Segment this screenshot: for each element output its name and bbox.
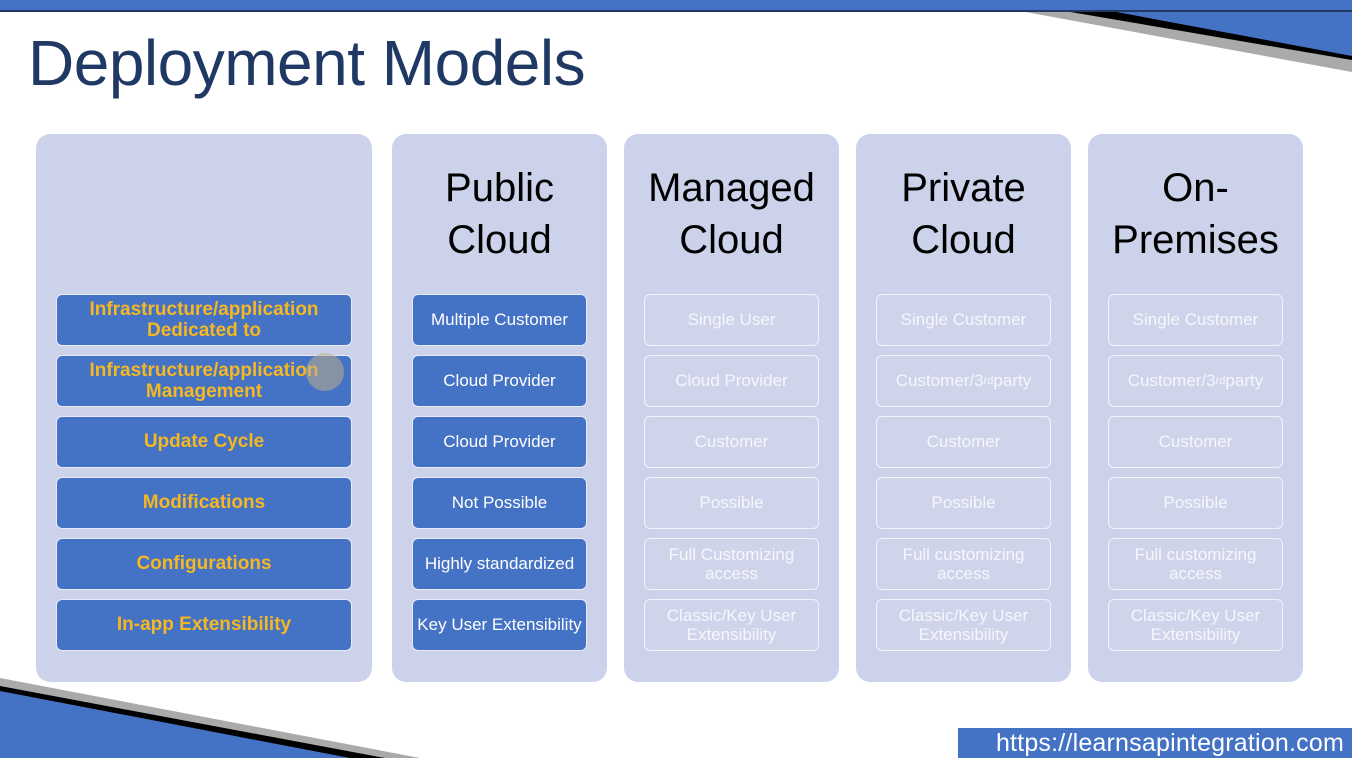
cell-managed-cloud-5[interactable]: Classic/Key User Extensibility xyxy=(644,599,819,651)
cell-managed-cloud-2[interactable]: Customer xyxy=(644,416,819,468)
cell-on-premises-0[interactable]: Single Customer xyxy=(1108,294,1283,346)
cell-public-cloud-4[interactable]: Highly standardized xyxy=(412,538,587,590)
bottom-left-blue-triangle-decoration xyxy=(0,691,350,758)
cell-private-cloud-1[interactable]: Customer/3rd party xyxy=(876,355,1051,407)
column-cells-on-premises: Single CustomerCustomer/3rd partyCustome… xyxy=(1108,294,1283,663)
cell-criteria-0[interactable]: Infrastructure/application Dedicated to xyxy=(56,294,352,346)
column-private-cloud: Private CloudSingle CustomerCustomer/3rd… xyxy=(856,134,1071,682)
footer-url-bar: https://learnsapintegration.com xyxy=(958,728,1352,758)
column-cells-public-cloud: Multiple CustomerCloud ProviderCloud Pro… xyxy=(412,294,587,663)
cell-criteria-2[interactable]: Update Cycle xyxy=(56,416,352,468)
cell-private-cloud-5[interactable]: Classic/Key User Extensibility xyxy=(876,599,1051,651)
cell-on-premises-2[interactable]: Customer xyxy=(1108,416,1283,468)
column-header-private-cloud: Private Cloud xyxy=(876,134,1051,294)
cell-criteria-3[interactable]: Modifications xyxy=(56,477,352,529)
column-on-premises: On-PremisesSingle CustomerCustomer/3rd p… xyxy=(1088,134,1303,682)
column-header-public-cloud: Public Cloud xyxy=(412,134,587,294)
cell-managed-cloud-3[interactable]: Possible xyxy=(644,477,819,529)
column-cells-criteria: Infrastructure/application Dedicated toI… xyxy=(56,294,352,663)
page-title: Deployment Models xyxy=(28,26,585,100)
cell-on-premises-3[interactable]: Possible xyxy=(1108,477,1283,529)
slide-canvas: Deployment Models Infrastructure/applica… xyxy=(0,0,1352,758)
top-blue-bar-decoration xyxy=(0,0,1352,10)
cell-private-cloud-2[interactable]: Customer xyxy=(876,416,1051,468)
cell-private-cloud-3[interactable]: Possible xyxy=(876,477,1051,529)
column-public-cloud: Public CloudMultiple CustomerCloud Provi… xyxy=(392,134,607,682)
column-criteria: Infrastructure/application Dedicated toI… xyxy=(36,134,372,682)
deployment-models-matrix: Infrastructure/application Dedicated toI… xyxy=(36,134,1318,682)
cell-public-cloud-1[interactable]: Cloud Provider xyxy=(412,355,587,407)
cell-managed-cloud-0[interactable]: Single User xyxy=(644,294,819,346)
cell-on-premises-1[interactable]: Customer/3rd party xyxy=(1108,355,1283,407)
cell-managed-cloud-4[interactable]: Full Customizing access xyxy=(644,538,819,590)
footer-url-text[interactable]: https://learnsapintegration.com xyxy=(996,729,1344,758)
cell-managed-cloud-1[interactable]: Cloud Provider xyxy=(644,355,819,407)
column-cells-private-cloud: Single CustomerCustomer/3rd partyCustome… xyxy=(876,294,1051,663)
cell-public-cloud-3[interactable]: Not Possible xyxy=(412,477,587,529)
cell-public-cloud-2[interactable]: Cloud Provider xyxy=(412,416,587,468)
cell-criteria-5[interactable]: In-app Extensibility xyxy=(56,599,352,651)
column-cells-managed-cloud: Single UserCloud ProviderCustomerPossibl… xyxy=(644,294,819,663)
column-header-managed-cloud: Managed Cloud xyxy=(644,134,819,294)
column-header-on-premises: On-Premises xyxy=(1108,134,1283,294)
top-navy-rule-decoration xyxy=(0,10,1352,12)
cell-on-premises-5[interactable]: Classic/Key User Extensibility xyxy=(1108,599,1283,651)
cell-private-cloud-4[interactable]: Full customizing access xyxy=(876,538,1051,590)
cell-public-cloud-0[interactable]: Multiple Customer xyxy=(412,294,587,346)
column-managed-cloud: Managed CloudSingle UserCloud ProviderCu… xyxy=(624,134,839,682)
cursor-highlight-blob xyxy=(306,353,344,391)
cell-criteria-4[interactable]: Configurations xyxy=(56,538,352,590)
cell-private-cloud-0[interactable]: Single Customer xyxy=(876,294,1051,346)
cell-on-premises-4[interactable]: Full customizing access xyxy=(1108,538,1283,590)
cell-public-cloud-5[interactable]: Key User Extensibility xyxy=(412,599,587,651)
